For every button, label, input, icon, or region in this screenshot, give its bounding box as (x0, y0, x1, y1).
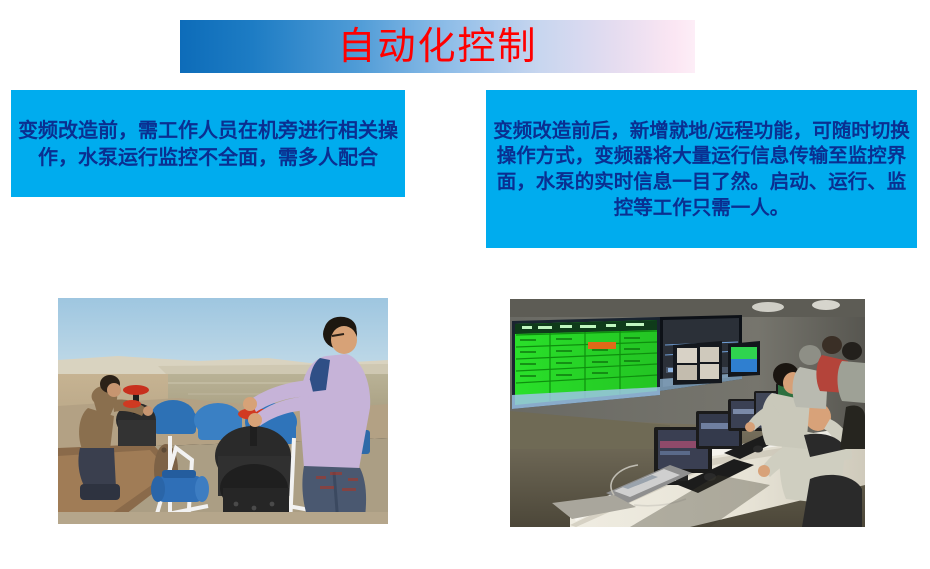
slide-canvas: 自动化控制 变频改造前，需工作人员在机旁进行相关操作，水泵运行监控不全面，需多人… (0, 0, 930, 569)
callout-box-after: 变频改造前后，新增就地/远程功能，可随时切换操作方式，变频器将大量运行信息传输至… (486, 90, 917, 248)
callout-before-text: 变频改造前，需工作人员在机旁进行相关操作，水泵运行监控不全面，需多人配合 (11, 117, 405, 170)
callout-after-text: 变频改造前后，新增就地/远程功能，可随时切换操作方式，变频器将大量运行信息传输至… (486, 118, 917, 221)
title-banner: 自动化控制 (180, 20, 695, 73)
control-room-illustration (510, 299, 865, 527)
page-title: 自动化控制 (180, 27, 695, 65)
photo-field-valve-operation (58, 298, 388, 524)
callout-box-before: 变频改造前，需工作人员在机旁进行相关操作，水泵运行监控不全面，需多人配合 (11, 90, 405, 197)
photo-control-room (510, 299, 865, 527)
field-photo-illustration (58, 298, 388, 524)
